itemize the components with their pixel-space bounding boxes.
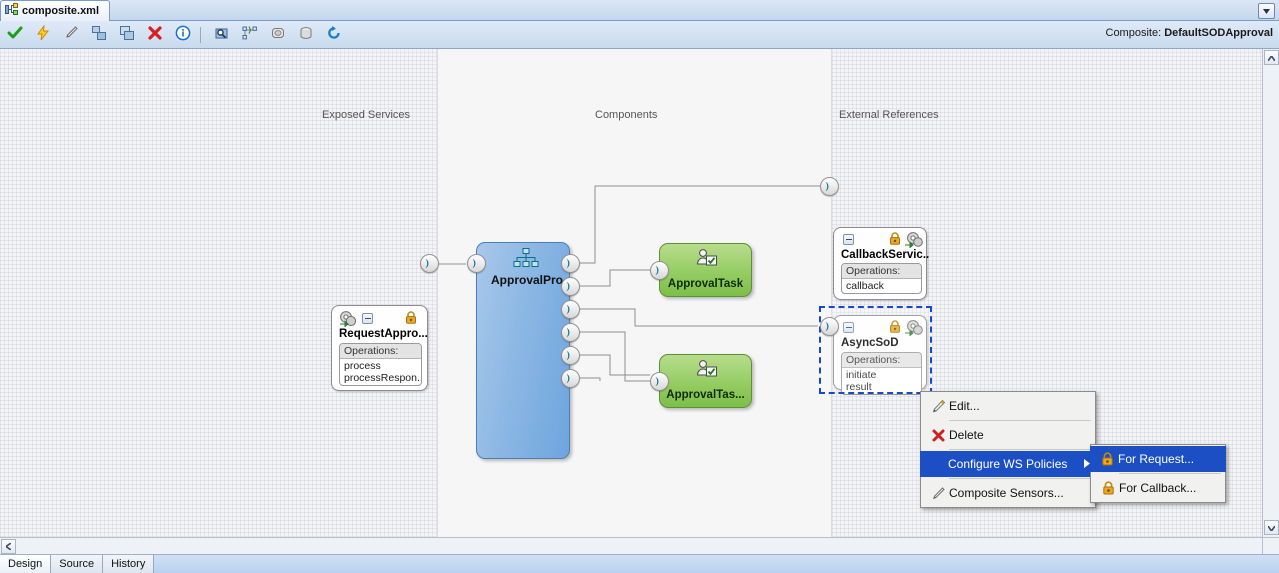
bpel-output-port-1[interactable] <box>561 254 580 273</box>
menu-separator <box>949 449 1091 450</box>
reference-title: CallbackServic... <box>841 249 929 261</box>
operations-list: callback <box>842 279 921 294</box>
service-gear-icon <box>338 310 358 330</box>
info-circle-icon <box>175 25 191 44</box>
menu-item-composite-sensors[interactable]: Composite Sensors... <box>921 480 1095 506</box>
approval-task-1-input-port[interactable] <box>650 261 669 280</box>
horizontal-scrollbar[interactable] <box>0 537 1262 554</box>
pencil-icon <box>927 399 949 414</box>
exposed-service-request-approval[interactable]: RequestAppro... Operations: process proc… <box>331 305 428 391</box>
refresh-button[interactable] <box>321 22 347 48</box>
context-menu[interactable]: Edit... Delete Configure WS Policies <box>920 391 1096 508</box>
component-title: ApprovalTask <box>660 278 751 290</box>
async-sod-input-port[interactable] <box>820 317 839 336</box>
callback-service-input-port[interactable] <box>820 177 839 196</box>
deploy-button[interactable] <box>30 22 56 48</box>
operations-list: process processRespon... <box>340 359 421 386</box>
menu-item-label: Composite Sensors... <box>949 486 1064 500</box>
bpel-output-port-4[interactable] <box>561 323 580 342</box>
human-task-icon <box>695 248 719 271</box>
tab-label: History <box>111 558 145 570</box>
document-tab-label: composite.xml <box>22 5 99 17</box>
scroll-left-button[interactable] <box>1 539 16 554</box>
lock-icon <box>1097 481 1119 495</box>
reference-gear-icon <box>904 231 924 251</box>
lane-title-exposed-services: Exposed Services <box>322 109 410 121</box>
operations-box: Operations: process processRespon... <box>339 343 422 386</box>
toolbar-separator <box>200 27 201 43</box>
monitor-drum-icon <box>298 25 314 44</box>
search-scope-button[interactable] <box>209 22 235 48</box>
request-approval-output-port[interactable] <box>420 254 439 273</box>
operation-item[interactable]: callback <box>846 280 917 292</box>
approval-task-2-input-port[interactable] <box>650 372 669 391</box>
submenu-item-label: For Request... <box>1118 452 1194 466</box>
edit-tool-button[interactable] <box>58 22 84 48</box>
chevron-left-icon <box>6 541 11 553</box>
paste-blocks-icon <box>119 25 135 44</box>
menu-separator <box>1119 473 1221 474</box>
menu-separator <box>949 420 1091 421</box>
component-title: ApprovalTas... <box>660 389 751 401</box>
context-submenu-ws-policies[interactable]: For Request... For Callback... <box>1090 444 1226 503</box>
submenu-item-for-callback[interactable]: For Callback... <box>1091 475 1225 501</box>
tabbar-filler <box>154 555 1279 573</box>
editor-mode-tabbar: Design Source History <box>0 554 1279 573</box>
external-reference-callback-service[interactable]: CallbackServic... Operations: callback <box>833 227 927 300</box>
menu-item-label: Delete <box>949 428 984 442</box>
tab-design[interactable]: Design <box>0 555 51 573</box>
bpel-input-port[interactable] <box>467 254 486 273</box>
delete-button[interactable] <box>142 22 168 48</box>
human-task-icon <box>695 359 719 382</box>
operations-header: Operations: <box>842 264 921 279</box>
document-tab-composite-xml[interactable]: composite.xml <box>0 0 110 21</box>
copy-blocks-icon <box>91 25 107 44</box>
lane-title-components: Components <box>595 109 657 121</box>
composite-prefix: Composite: <box>1106 27 1162 39</box>
collapse-icon[interactable] <box>843 234 854 245</box>
bpel-output-port-3[interactable] <box>561 300 580 319</box>
sensor-pen-icon <box>927 486 949 501</box>
component-approval-process[interactable]: ApprovalPro... <box>476 242 570 459</box>
tab-list-button[interactable] <box>1258 3 1275 19</box>
scroll-up-button[interactable] <box>1264 50 1279 65</box>
menu-item-configure-ws-policies[interactable]: Configure WS Policies <box>920 451 1096 477</box>
green-check-icon <box>7 25 23 44</box>
lock-icon <box>889 232 901 248</box>
lock-icon <box>1096 452 1118 466</box>
info-button[interactable] <box>170 22 196 48</box>
operation-item[interactable]: processRespon... <box>344 372 417 384</box>
collapse-icon[interactable] <box>362 313 373 324</box>
tab-source[interactable]: Source <box>51 555 103 573</box>
submenu-item-for-request[interactable]: For Request... <box>1090 446 1226 472</box>
chevron-down-icon <box>1268 522 1275 534</box>
blue-refresh-arrow-icon <box>326 25 342 44</box>
lane-title-external-references: External References <box>839 109 939 121</box>
tab-label: Source <box>59 558 94 570</box>
vertical-scrollbar[interactable] <box>1262 49 1279 537</box>
soa-composite-editor: composite.xml <box>0 0 1279 573</box>
operation-item[interactable]: process <box>344 360 417 372</box>
bpel-output-port-6[interactable] <box>561 369 580 388</box>
lock-icon <box>405 311 417 327</box>
chevron-down-icon <box>1263 5 1270 17</box>
menu-item-label: Configure WS Policies <box>948 457 1067 471</box>
main-toolbar: Composite: DefaultSODApproval <box>0 21 1279 49</box>
red-x-icon <box>147 25 163 44</box>
service-title: RequestAppro... <box>339 328 427 340</box>
chevron-up-icon <box>1268 52 1275 64</box>
scroll-down-button[interactable] <box>1264 520 1279 535</box>
operations-box: Operations: callback <box>841 263 922 294</box>
menu-item-delete[interactable]: Delete <box>921 422 1095 448</box>
submenu-item-label: For Callback... <box>1119 481 1196 495</box>
copy-button[interactable] <box>86 22 112 48</box>
lightning-bolt-icon <box>35 25 51 44</box>
composite-value: DefaultSODApproval <box>1164 27 1273 39</box>
sensor-drum-icon <box>270 25 286 44</box>
bpel-output-port-5[interactable] <box>561 346 580 365</box>
component-approval-task-1[interactable]: ApprovalTask <box>659 243 752 297</box>
monitor-button[interactable] <box>293 22 319 48</box>
sensors-button[interactable] <box>265 22 291 48</box>
red-x-icon <box>927 428 949 443</box>
policy-tree-icon <box>242 25 258 44</box>
pen-icon <box>63 25 79 44</box>
document-tabstrip: composite.xml <box>0 0 1279 21</box>
paste-button[interactable] <box>114 22 140 48</box>
tab-history[interactable]: History <box>103 555 154 573</box>
composite-name-label: Composite: DefaultSODApproval <box>1106 27 1274 39</box>
magnifier-box-icon <box>214 25 230 44</box>
menu-item-edit[interactable]: Edit... <box>921 393 1095 419</box>
scrollbar-corner <box>1262 537 1279 554</box>
bpel-process-icon <box>513 248 539 273</box>
component-approval-task-2[interactable]: ApprovalTas... <box>659 354 752 408</box>
tab-label: Design <box>8 558 42 570</box>
menu-separator <box>949 478 1091 479</box>
bpel-output-port-2[interactable] <box>561 277 580 296</box>
validate-button[interactable] <box>2 22 28 48</box>
operations-header: Operations: <box>340 344 421 359</box>
menu-item-label: Edit... <box>949 399 980 413</box>
composite-xml-icon <box>5 3 18 19</box>
policies-button[interactable] <box>237 22 263 48</box>
